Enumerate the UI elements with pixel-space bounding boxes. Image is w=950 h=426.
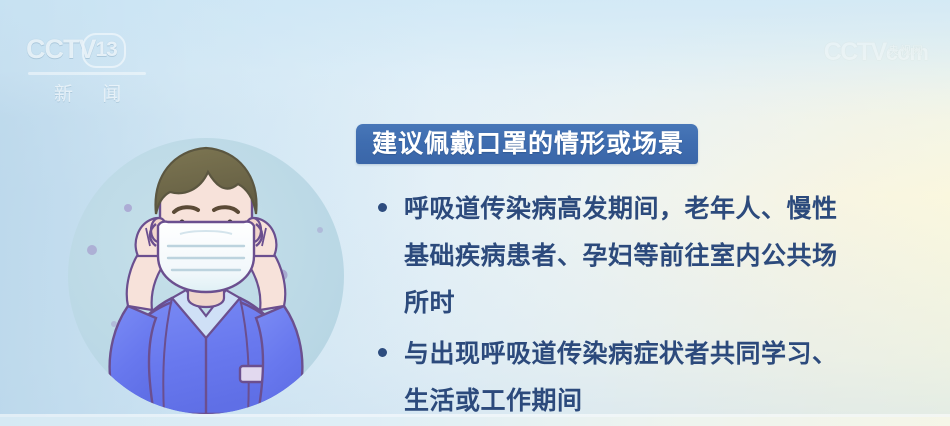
cctv-com-watermark: 央视网 CCTVcom [738,40,928,88]
mask-person-graphic [68,138,344,414]
broadcast-graphic-screen: CCTV13 新 闻 央视网 CCTVcom [0,0,950,426]
bullet-dot-icon [378,203,387,212]
page-title: 建议佩戴口罩的情形或场景 [372,132,684,157]
cctv-13-logo-underline [28,72,146,75]
cctv-13-logo-wordmark: CCTV13 [26,34,186,70]
cctv-watermark-text: CCTV [824,38,886,66]
list-item-line: 呼吸道传染病高发期间，老年人、慢性 [404,186,923,233]
illustration-circle-background [68,138,344,414]
list-item-text: 与出现呼吸道传染病症状者共同学习、 生活或工作期间 [404,331,923,425]
list-item: 呼吸道传染病高发期间，老年人、慢性 基础疾病患者、孕妇等前往室内公共场 所时 [378,186,923,327]
list-item-line: 与出现呼吸道传染病症状者共同学习、 [404,331,923,378]
list-item-line: 所时 [404,280,923,327]
person-wearing-mask-illustration [68,138,344,414]
list-item: 与出现呼吸道传染病症状者共同学习、 生活或工作期间 [378,331,923,425]
recommendation-list: 呼吸道传染病高发期间，老年人、慢性 基础疾病患者、孕妇等前往室内公共场 所时 与… [378,186,923,426]
bullet-dot-icon [378,348,387,357]
list-item-text: 呼吸道传染病高发期间，老年人、慢性 基础疾病患者、孕妇等前往室内公共场 所时 [404,186,923,327]
bottom-strip [0,417,950,426]
cctv-13-logo-subtitle: 新 闻 [26,79,186,106]
channel-number-badge: 13 [82,33,126,68]
recommendation-title-banner: 建议佩戴口罩的情形或场景 [356,124,698,164]
list-item-line: 基础疾病患者、孕妇等前往室内公共场 [404,233,923,280]
cctv-13-logo: CCTV13 新 闻 [26,34,186,100]
cctv-com-watermark-chinese: 央视网 [888,42,924,58]
